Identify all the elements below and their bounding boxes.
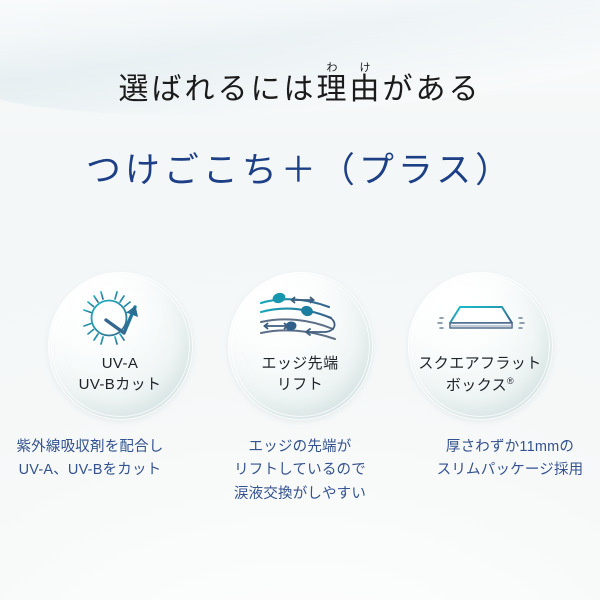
caption-edge-lift-line1: エッジの先端が [213, 436, 388, 459]
feature-circle-uv: UV-A UV-Bカット [48, 272, 193, 420]
caption-edge-lift-line2: リフトしているので [213, 459, 388, 482]
headline-text-before: 選ばれるには [119, 73, 317, 106]
caption-uv-line2: UV-A、UV-Bをカット [3, 459, 178, 482]
headline-container: 選ばれるには理由わけがある [0, 62, 600, 106]
registered-trademark-icon: ® [507, 376, 514, 386]
caption-flat-box: 厚さわずか11mmの スリムパッケージ採用 [423, 436, 598, 506]
edge-lift-flow-icon [228, 286, 373, 350]
feature-circle-list: UV-A UV-Bカット [0, 272, 600, 432]
feature-label-uv: UV-A UV-Bカット [48, 354, 193, 395]
caption-uv: 紫外線吸収剤を配合し UV-A、UV-Bをカット [3, 436, 178, 506]
headline-furigana: わけ [317, 62, 383, 74]
caption-flat-box-line2: スリムパッケージ採用 [423, 459, 598, 482]
caption-uv-line1: 紫外線吸収剤を配合し [3, 436, 178, 459]
feature-label-flat-box-line2-text: ボックス [446, 377, 507, 394]
feature-label-flat-box-line2: ボックス® [408, 375, 553, 397]
feature-label-edge-lift-line2: リフト [228, 375, 373, 396]
caption-list: 紫外線吸収剤を配合し UV-A、UV-Bをカット エッジの先端が リフトしている… [0, 436, 600, 506]
feature-label-flat-box: スクエアフラット ボックス® [408, 354, 553, 396]
square-flat-box-icon [408, 286, 553, 350]
feature-label-uv-line2: UV-Bカット [48, 375, 193, 396]
tagline: つけごこち＋（プラス） [86, 142, 514, 193]
caption-edge-lift-line3: 涙液交換がしやすい [213, 483, 388, 506]
tagline-container: つけごこち＋（プラス） [0, 142, 600, 193]
feature-circle-flat-box: スクエアフラット ボックス® [408, 272, 553, 420]
feature-label-edge-lift-line1: エッジ先端 [228, 354, 373, 375]
product-feature-poster: 選ばれるには理由わけがある つけごこち＋（プラス） [0, 0, 600, 600]
feature-label-edge-lift: エッジ先端 リフト [228, 354, 373, 395]
page-title: 選ばれるには理由わけがある [119, 62, 482, 106]
headline-ruby-group: 理由わけ [317, 73, 383, 106]
uv-sun-arrow-icon [48, 286, 193, 350]
caption-flat-box-line1: 厚さわずか11mmの [423, 436, 598, 459]
headline-ruby-base: 理由 [317, 73, 383, 106]
headline-text-after: がある [383, 73, 482, 106]
feature-label-flat-box-line1: スクエアフラット [408, 354, 553, 375]
feature-label-uv-line1: UV-A [48, 354, 193, 375]
caption-edge-lift: エッジの先端が リフトしているので 涙液交換がしやすい [213, 436, 388, 506]
feature-circle-edge-lift: エッジ先端 リフト [228, 272, 373, 420]
